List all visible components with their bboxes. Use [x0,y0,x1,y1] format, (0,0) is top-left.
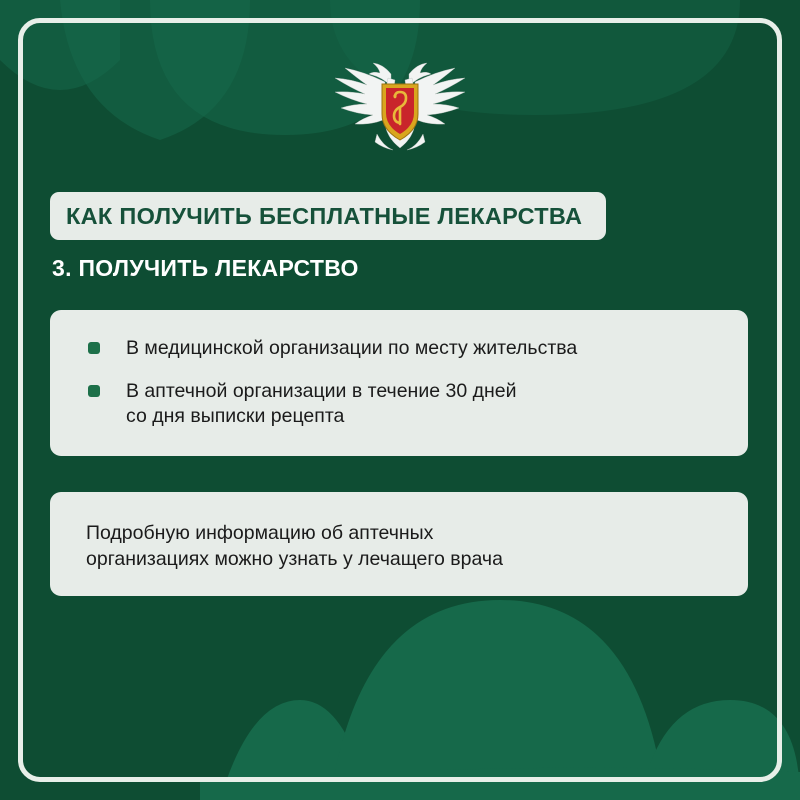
bottom-hill-right [640,700,800,800]
bottom-base-band [200,768,800,800]
poster-root: КАК ПОЛУЧИТЬ БЕСПЛАТНЫЕ ЛЕКАРСТВА 3. ПОЛ… [0,0,800,800]
double-headed-eagle-medical-emblem-icon [325,52,475,157]
note-text: Подробную информацию об аптечных организ… [86,520,720,572]
top-left-arc-shape [0,0,120,90]
bottom-hill-large [330,600,665,800]
list-item: В аптечной организации в течение 30 дней… [88,379,748,429]
top-arc-small [60,0,250,140]
step-subtitle: 3. ПОЛУЧИТЬ ЛЕКАРСТВО [52,255,359,282]
bullet-square-icon [88,385,100,397]
bullet-list: В медицинской организации по месту жител… [50,310,748,429]
snake-head [393,94,396,97]
page-title: КАК ПОЛУЧИТЬ БЕСПЛАТНЫЕ ЛЕКАРСТВА [66,203,582,230]
list-item: В медицинской организации по месту жител… [88,336,748,361]
emblem [325,52,475,157]
list-item-text: В медицинской организации по месту жител… [126,336,748,361]
bullets-panel: В медицинской организации по месту жител… [50,310,748,456]
bottom-hill-small [220,700,370,800]
note-panel: Подробную информацию об аптечных организ… [50,492,748,596]
bullet-square-icon [88,342,100,354]
title-banner: КАК ПОЛУЧИТЬ БЕСПЛАТНЫЕ ЛЕКАРСТВА [50,192,606,240]
list-item-text: В аптечной организации в течение 30 дней… [126,379,748,429]
